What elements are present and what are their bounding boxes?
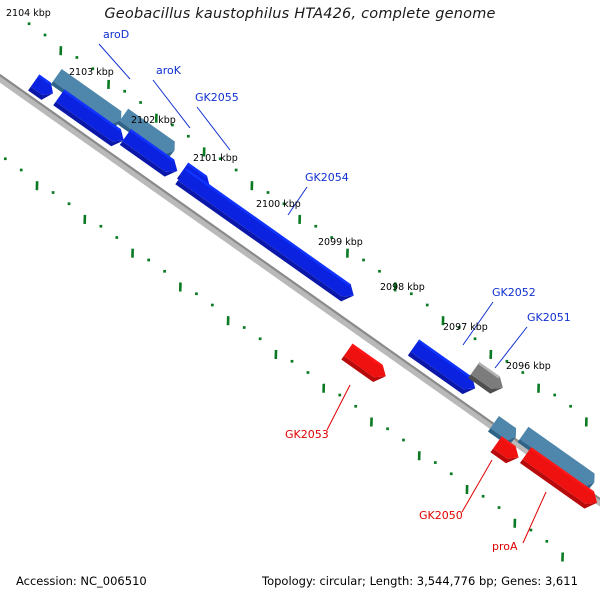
tick-dot — [243, 326, 246, 329]
gene-label-GK2055[interactable]: GK2055 — [195, 91, 239, 104]
tick-dot — [259, 337, 262, 340]
tick-dot — [100, 225, 103, 228]
leader-line-GK2053 — [327, 385, 350, 430]
gene-label-GK2054[interactable]: GK2054 — [305, 171, 349, 184]
gene-label-GK2052[interactable]: GK2052 — [492, 286, 536, 299]
tick-dot — [386, 427, 389, 430]
tick-dot — [314, 225, 317, 228]
gene-feature-proA[interactable] — [509, 427, 600, 513]
tick-dot — [378, 270, 381, 273]
gene-body[interactable] — [178, 168, 358, 301]
leader-line-proA — [523, 492, 546, 543]
gene-label-aroK[interactable]: aroK — [156, 64, 182, 77]
genome-map-viewer: Geobacillus kaustophilus HTA426, complet… — [0, 0, 600, 600]
tick-dot — [545, 540, 548, 543]
tick-dot — [44, 34, 47, 37]
leader-line-GK2055 — [197, 107, 230, 150]
tick-label-t2100: 2100 kbp — [256, 199, 301, 210]
tick-dot — [307, 371, 310, 374]
tick-dot — [187, 135, 190, 138]
gene-label-GK2050[interactable]: GK2050 — [419, 509, 463, 522]
status-bar: Accession: NC_006510 Topology: circular;… — [0, 574, 600, 592]
tick-dot — [498, 506, 501, 509]
tick-label-t2101: 2101 kbp — [193, 153, 238, 164]
tick-dot — [139, 101, 142, 104]
tick-label-t2098: 2098 kbp — [380, 282, 425, 293]
gene-label-aroD[interactable]: aroD — [103, 28, 129, 41]
tick-dot — [474, 337, 477, 340]
tick-dot — [434, 461, 437, 464]
tick-dot — [28, 22, 31, 25]
tick-dot — [20, 169, 23, 172]
tick-dot — [291, 360, 294, 363]
tick-label-t2104: 2104 kbp — [6, 8, 51, 19]
tick-dot — [211, 304, 214, 307]
tick-dot — [569, 405, 572, 408]
tick-dot — [76, 56, 79, 59]
tick-dot — [482, 495, 485, 498]
gene-label-GK2053[interactable]: GK2053 — [285, 428, 329, 441]
tick-dot — [123, 90, 126, 93]
gene-feature-GK2051[interactable] — [468, 362, 507, 398]
tick-label-t2096: 2096 kbp — [506, 361, 551, 372]
tick-dot — [362, 259, 365, 262]
tick-label-t2103: 2103 kbp — [69, 67, 114, 78]
tick-dot — [115, 236, 118, 239]
gene-body[interactable] — [410, 340, 479, 395]
tick-dot — [553, 394, 556, 397]
tick-dot — [338, 394, 341, 397]
tick-dot — [195, 292, 198, 295]
tick-dot — [235, 169, 238, 172]
genome-map-canvas[interactable]: 2104 kbp2103 kbp2102 kbp2101 kbp2100 kbp… — [0, 0, 600, 600]
gene-label-proA[interactable]: proA — [492, 540, 518, 553]
tick-dot — [354, 405, 357, 408]
tick-dot — [68, 202, 71, 205]
tick-label-t2102: 2102 kbp — [131, 115, 176, 126]
tick-dot — [450, 472, 453, 475]
tick-label-t2097: 2097 kbp — [443, 322, 488, 333]
tick-dot — [52, 191, 55, 194]
gene-label-GK2051[interactable]: GK2051 — [527, 311, 571, 324]
tick-dot — [4, 157, 7, 160]
topology-summary-text: Topology: circular; Length: 3,544,776 bp… — [262, 574, 578, 588]
tick-dot — [530, 529, 533, 532]
tick-dot — [147, 259, 150, 262]
tick-dot — [163, 270, 166, 273]
tick-labels: 2104 kbp2103 kbp2102 kbp2101 kbp2100 kbp… — [6, 8, 551, 372]
tick-dot — [402, 439, 405, 442]
accession-text: Accession: NC_006510 — [16, 574, 147, 588]
tick-label-t2099: 2099 kbp — [318, 237, 363, 248]
tick-dot — [426, 304, 429, 307]
tick-dot — [267, 191, 270, 194]
